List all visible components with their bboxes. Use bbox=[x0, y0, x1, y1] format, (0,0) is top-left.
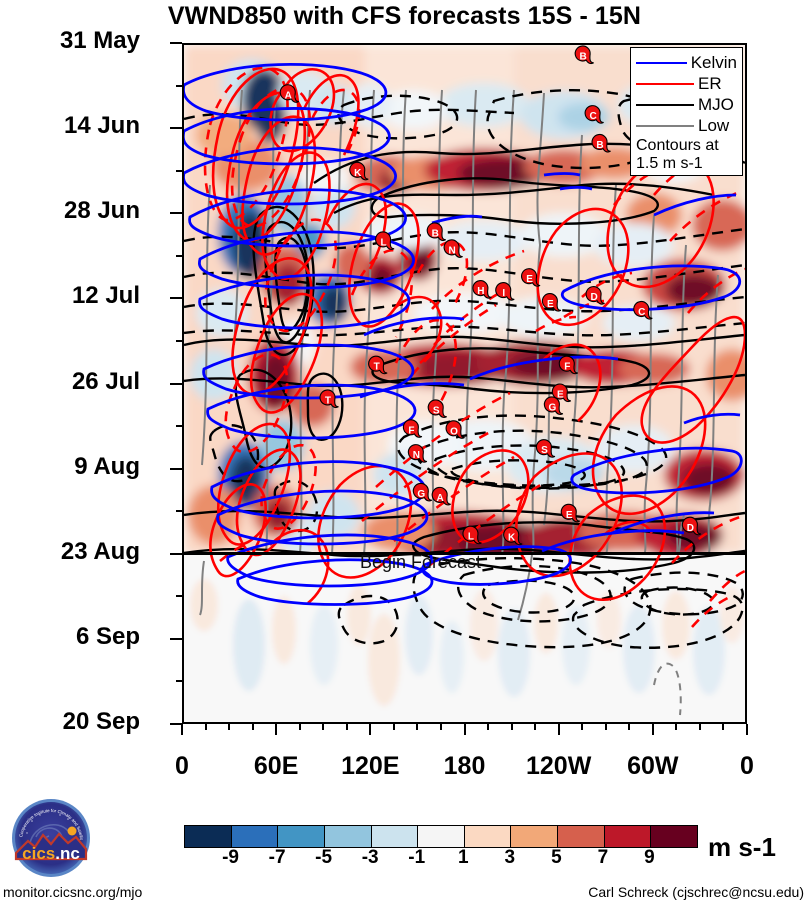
y-axis-tick bbox=[170, 297, 182, 299]
y-axis-label: 9 Aug bbox=[0, 453, 140, 481]
storm-marker-label: N bbox=[448, 245, 455, 256]
legend-note-line1: Contours at bbox=[636, 137, 737, 154]
storm-marker: N bbox=[408, 445, 426, 463]
x-axis-tick bbox=[181, 724, 183, 735]
x-axis-tick bbox=[369, 724, 371, 735]
x-axis-tick bbox=[746, 724, 748, 735]
colorbar-tick-label: 3 bbox=[490, 847, 530, 869]
x-axis-minor-tick bbox=[228, 724, 230, 730]
colorbar-segment bbox=[558, 826, 605, 847]
colorbar bbox=[184, 825, 698, 848]
storm-marker: G bbox=[413, 483, 431, 501]
y-axis-minor-tick bbox=[176, 85, 182, 87]
storm-marker-label: G bbox=[417, 489, 425, 500]
x-axis-minor-tick bbox=[511, 724, 513, 730]
storm-marker-label: B bbox=[596, 140, 603, 151]
storm-marker: D bbox=[586, 287, 604, 305]
y-axis-label: 23 Aug bbox=[0, 538, 140, 566]
storm-marker: F bbox=[559, 356, 577, 374]
storm-marker: E bbox=[561, 504, 579, 522]
x-axis-minor-tick bbox=[416, 724, 418, 730]
logo-text: cics.nc bbox=[22, 844, 80, 863]
storm-marker: L bbox=[376, 232, 394, 250]
low-line-swatch bbox=[636, 125, 694, 127]
y-axis-minor-tick bbox=[176, 170, 182, 172]
storm-marker-label: H bbox=[477, 286, 484, 297]
colorbar-tick-label: 5 bbox=[536, 847, 576, 869]
storm-marker-label: E bbox=[557, 390, 564, 401]
storm-marker: E bbox=[542, 294, 560, 312]
storm-marker-label: K bbox=[354, 168, 362, 179]
colorbar-tick-label: -5 bbox=[304, 847, 344, 869]
y-axis-tick bbox=[170, 553, 182, 555]
y-axis-tick bbox=[170, 42, 182, 44]
storm-marker: D bbox=[682, 517, 700, 535]
storm-marker-label: A bbox=[285, 90, 292, 101]
storm-marker-label: D bbox=[687, 523, 694, 534]
colorbar-tick-label: -9 bbox=[211, 847, 251, 869]
storm-marker: L bbox=[463, 526, 481, 544]
x-axis-minor-tick bbox=[534, 724, 536, 730]
colorbar-segment bbox=[651, 826, 697, 847]
legend-item-kelvin: Kelvin bbox=[636, 52, 737, 73]
y-axis-label: 26 Jul bbox=[0, 368, 140, 396]
colorbar-segment bbox=[418, 826, 465, 847]
storm-marker-label: E bbox=[547, 299, 554, 310]
x-axis-minor-tick bbox=[299, 724, 301, 730]
storm-marker-label: N bbox=[413, 450, 420, 461]
y-axis-tick bbox=[170, 383, 182, 385]
y-axis-tick bbox=[170, 638, 182, 640]
storm-marker-label: S bbox=[541, 445, 548, 456]
x-axis-tick bbox=[558, 724, 560, 735]
y-axis-minor-tick bbox=[176, 595, 182, 597]
kelvin-line-swatch bbox=[636, 62, 687, 64]
colorbar-tick-label: -7 bbox=[257, 847, 297, 869]
storm-marker: B bbox=[427, 223, 445, 241]
storm-marker-label: D bbox=[590, 292, 597, 303]
y-axis-minor-tick bbox=[176, 340, 182, 342]
x-axis-minor-tick bbox=[581, 724, 583, 730]
footer-author: Carl Schreck (cjschrec@ncsu.edu) bbox=[588, 884, 804, 900]
legend-note-line2: 1.5 m s-1 bbox=[636, 155, 737, 172]
y-axis-label: 20 Sep bbox=[0, 708, 140, 736]
storm-marker: T bbox=[369, 356, 387, 374]
colorbar-tick-label: -3 bbox=[350, 847, 390, 869]
legend-item-er: ER bbox=[636, 73, 737, 94]
y-axis-label: 31 May bbox=[0, 27, 140, 55]
storm-marker: K bbox=[504, 527, 522, 545]
x-axis-minor-tick bbox=[605, 724, 607, 730]
y-axis-label: 12 Jul bbox=[0, 282, 140, 310]
storm-marker-label: C bbox=[638, 307, 645, 318]
storm-marker-label: G bbox=[548, 402, 556, 413]
colorbar-unit-label: m s-1 bbox=[708, 832, 776, 863]
storm-marker-label: S bbox=[433, 405, 440, 416]
legend-item-mjo: MJO bbox=[636, 94, 737, 115]
y-axis-tick bbox=[170, 212, 182, 214]
storm-marker: I bbox=[496, 283, 514, 301]
y-axis-minor-tick bbox=[176, 680, 182, 682]
storm-marker-label: B bbox=[432, 228, 439, 239]
contour-legend: Kelvin ER MJO Low Contours at 1.5 m s-1 bbox=[630, 47, 743, 176]
storm-marker: B bbox=[592, 134, 610, 152]
storm-marker-label: K bbox=[508, 533, 516, 544]
legend-item-low: Low bbox=[636, 115, 737, 136]
storm-marker: A bbox=[280, 85, 298, 103]
colorbar-segment bbox=[185, 826, 232, 847]
colorbar-segment bbox=[465, 826, 512, 847]
y-axis-minor-tick bbox=[176, 425, 182, 427]
x-axis-label: 0 bbox=[687, 752, 807, 781]
storm-marker: K bbox=[350, 162, 368, 180]
colorbar-tick-label: 1 bbox=[443, 847, 483, 869]
begin-forecast-label: Begin Forecast bbox=[360, 552, 481, 573]
colorbar-segment bbox=[605, 826, 652, 847]
x-axis-tick bbox=[275, 724, 277, 735]
x-axis-minor-tick bbox=[252, 724, 254, 730]
storm-marker: E bbox=[522, 269, 540, 287]
colorbar-tick-label: 9 bbox=[629, 847, 669, 869]
footer-url: monitor.cicsnc.org/mjo bbox=[3, 884, 142, 900]
x-axis-minor-tick bbox=[628, 724, 630, 730]
colorbar-segment bbox=[511, 826, 558, 847]
storm-marker: C bbox=[585, 106, 603, 124]
er-line-swatch bbox=[636, 83, 694, 85]
colorbar-segment bbox=[372, 826, 419, 847]
x-axis-minor-tick bbox=[699, 724, 701, 730]
storm-marker-label: T bbox=[325, 396, 331, 407]
colorbar-tick-label: 7 bbox=[583, 847, 623, 869]
x-axis-minor-tick bbox=[487, 724, 489, 730]
storm-marker-label: F bbox=[564, 362, 570, 373]
y-axis-tick bbox=[170, 127, 182, 129]
storm-marker-label: E bbox=[526, 274, 533, 285]
storm-marker: O bbox=[446, 421, 464, 439]
legend-label-kelvin: Kelvin bbox=[691, 54, 737, 71]
storm-marker: S bbox=[428, 400, 446, 418]
legend-label-mjo: MJO bbox=[698, 96, 734, 113]
y-axis-label: 6 Sep bbox=[0, 623, 140, 651]
storm-marker: H bbox=[473, 281, 491, 299]
y-axis-label: 28 Jun bbox=[0, 197, 140, 225]
storm-marker-label: I bbox=[502, 288, 505, 299]
storm-marker: A bbox=[432, 487, 450, 505]
legend-label-er: ER bbox=[698, 75, 722, 92]
x-axis-minor-tick bbox=[675, 724, 677, 730]
storm-marker-label: C bbox=[589, 111, 596, 122]
storm-marker: C bbox=[634, 301, 652, 319]
storm-marker: N bbox=[444, 240, 462, 258]
storm-marker-label: E bbox=[566, 510, 573, 521]
storm-marker-label: F bbox=[408, 425, 414, 436]
storm-marker: T bbox=[320, 390, 338, 408]
y-axis-label: 14 Jun bbox=[0, 112, 140, 140]
storm-marker-label: O bbox=[450, 426, 458, 437]
x-axis-minor-tick bbox=[393, 724, 395, 730]
x-axis-minor-tick bbox=[440, 724, 442, 730]
x-axis-minor-tick bbox=[322, 724, 324, 730]
storm-marker-label: T bbox=[374, 362, 380, 373]
mjo-line-swatch bbox=[636, 104, 694, 106]
storm-marker: F bbox=[403, 420, 421, 438]
y-axis-minor-tick bbox=[176, 510, 182, 512]
storm-marker-label: B bbox=[580, 52, 587, 63]
storm-marker-label: L bbox=[381, 237, 387, 248]
x-axis-minor-tick bbox=[722, 724, 724, 730]
storm-marker: S bbox=[536, 440, 554, 458]
x-axis-tick bbox=[652, 724, 654, 735]
storm-marker-label: L bbox=[468, 532, 474, 543]
storm-marker-label: A bbox=[437, 493, 444, 504]
cics-nc-logo: cics.nc Cooperative Institute for Climat… bbox=[10, 797, 92, 879]
storm-marker: B bbox=[575, 46, 593, 64]
colorbar-segment bbox=[232, 826, 279, 847]
x-axis-minor-tick bbox=[205, 724, 207, 730]
y-axis-tick bbox=[170, 468, 182, 470]
legend-label-low: Low bbox=[698, 117, 729, 134]
x-axis-minor-tick bbox=[346, 724, 348, 730]
x-axis-tick bbox=[464, 724, 466, 735]
colorbar-tick-label: -1 bbox=[397, 847, 437, 869]
colorbar-segment bbox=[278, 826, 325, 847]
y-axis-minor-tick bbox=[176, 255, 182, 257]
colorbar-segment bbox=[325, 826, 372, 847]
